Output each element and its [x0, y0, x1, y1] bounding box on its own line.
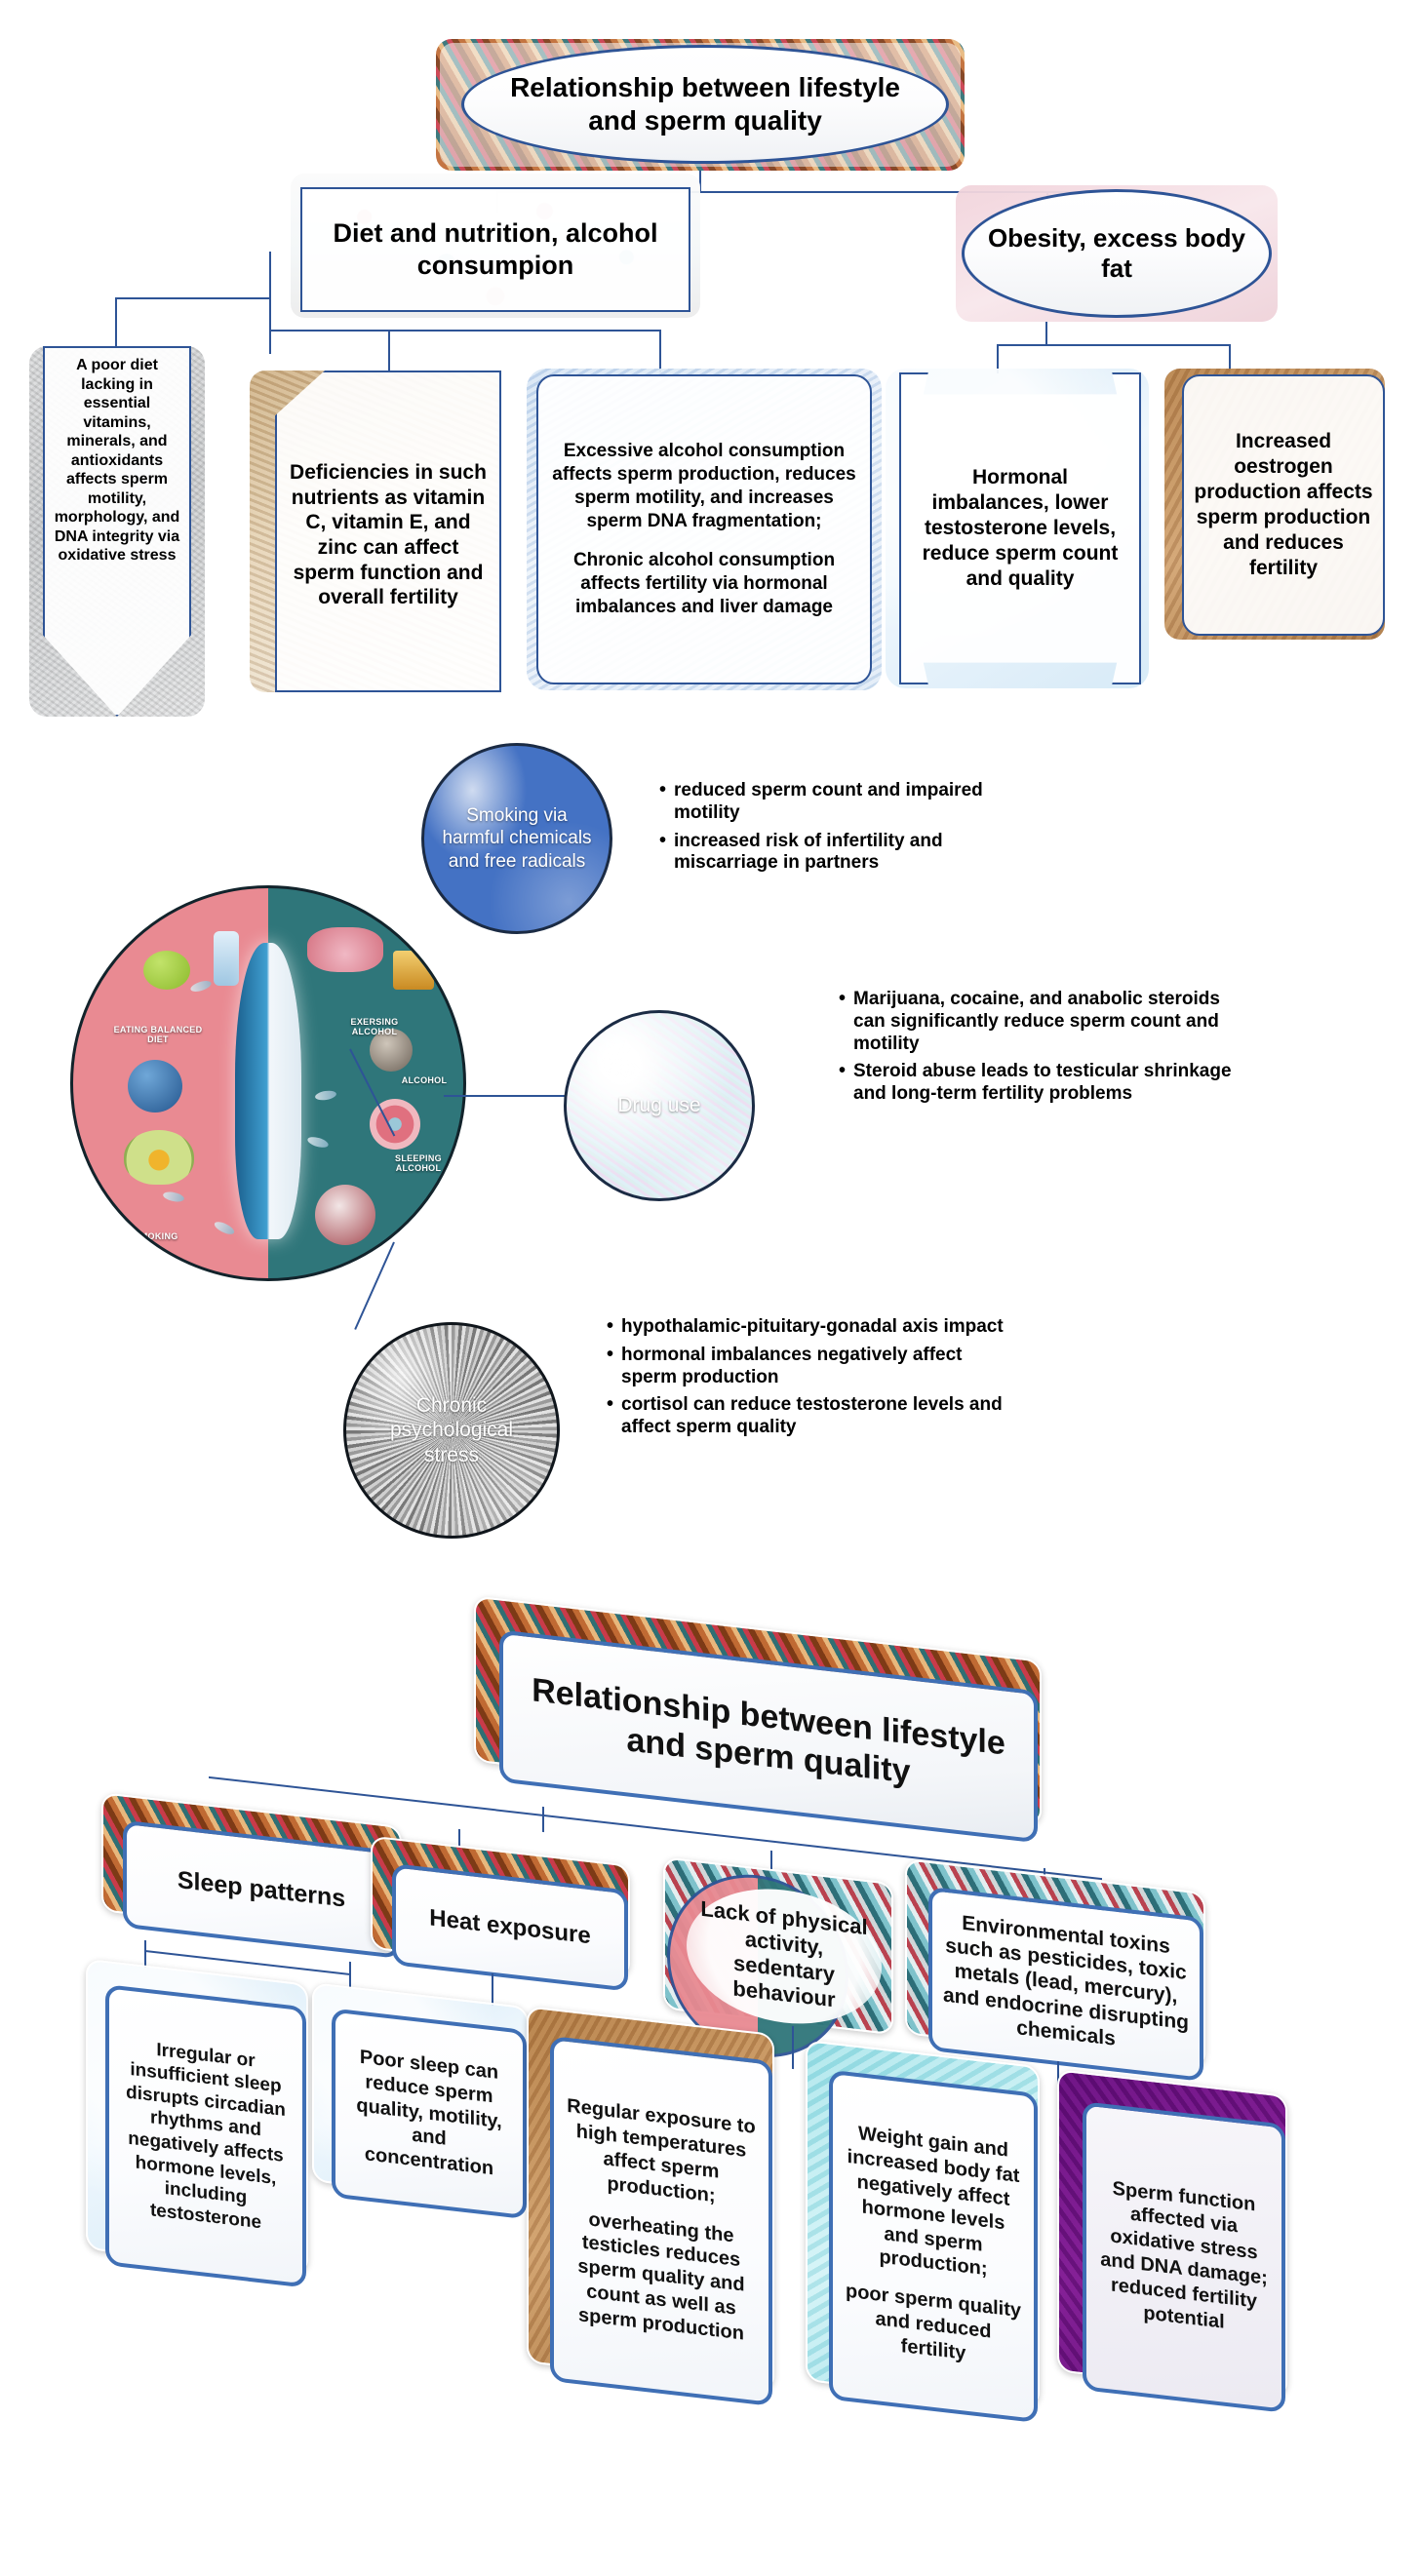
p-leaf-heat-text-1: Regular exposure to high temperatures af…: [564, 2094, 759, 2213]
circle-chronic-stress: Chronic psychological stress: [343, 1322, 560, 1539]
root-title-oval: Relationship between lifestyle and sperm…: [461, 45, 949, 164]
leaf-oestrogen-text: Increased oestrogen production affects s…: [1194, 429, 1373, 581]
bullet-smoking-1: increased risk of infertility and miscar…: [659, 831, 1040, 876]
p-leaf-sperm-function: Sperm function affected via oxidative st…: [1069, 2087, 1281, 2403]
circle-drug-use: Drug use: [564, 1010, 755, 1201]
p-node-heat-exposure: Heat exposure: [382, 1853, 624, 1983]
bullets-chronic-stress: hypothalamic-pituitary-gonadal axis impa…: [607, 1316, 1016, 1445]
beer-icon: [393, 951, 434, 990]
p-leaf-weight-gain-face: Weight gain and increased body fat negat…: [829, 2070, 1038, 2423]
p-leaf-weight-text-2: poor sperm quality and reduced fertility: [843, 2280, 1024, 2373]
root-title-text: Relationship between lifestyle and sperm…: [490, 71, 921, 137]
circle-smoking-label: Smoking via harmful chemicals and free r…: [439, 804, 595, 873]
p-connector-root-down: [542, 1807, 544, 1832]
bullet-drug-0: Marijuana, cocaine, and anabolic steroid…: [839, 989, 1248, 1055]
bullet-stress-2: cortisol can reduce testosterone levels …: [607, 1394, 1016, 1439]
leaf-hormonal-text: Hormonal imbalances, lower testosterone …: [913, 465, 1127, 592]
connector-diet-child3: [659, 330, 661, 372]
circle-drug-label: Drug use: [617, 1093, 700, 1118]
p-leaf-irregular-sleep-face: Irregular or insufficient sleep disrupts…: [105, 1984, 306, 2287]
leaf-poor-diet: A poor diet lacking in essential vitamin…: [29, 346, 205, 717]
leaf-deficiencies: Deficiencies in such nutrients as vitami…: [250, 371, 501, 692]
connector-diet-child1: [115, 297, 117, 352]
p-node-lack-activity: Lack of physical activity, sedentary beh…: [673, 1871, 887, 2038]
connector-obesity-drop: [1045, 322, 1047, 345]
leaf-oestrogen: Increased oestrogen production affects s…: [1164, 369, 1385, 640]
uterus-icon: [307, 927, 383, 972]
connector-photo-drug: [444, 1095, 565, 1097]
p-leaf-poor-sleep: Poor sleep can reduce sperm quality, mot…: [322, 1997, 523, 2210]
leaf-alcohol-text-2: Chronic alcohol consumption affects fert…: [548, 549, 860, 619]
connector-obesity-bus: [997, 344, 1231, 346]
root-title-node: Relationship between lifestyle and sperm…: [436, 39, 965, 171]
virus-icon: [315, 1185, 375, 1245]
p-leaf-irregular-sleep-text: Irregular or insufficient sleep disrupts…: [119, 2034, 293, 2238]
p-node-heat-text: Heat exposure: [429, 1904, 590, 1950]
p-leaf-heat-text-2: overheating the testicles reduces sperm …: [564, 2205, 759, 2348]
illustration-label-2: ALCOHOL: [385, 1075, 463, 1085]
p-leaf-sperm-function-face: Sperm function affected via oxidative st…: [1083, 2101, 1285, 2413]
bullet-drug-1: Steroid abuse leads to testicular shrink…: [839, 1061, 1248, 1106]
leaf-oestrogen-box: Increased oestrogen production affects s…: [1182, 374, 1385, 636]
p-leaf-heat-detail: Regular exposure to high temperatures af…: [538, 2023, 769, 2397]
connector-diet-bus: [269, 330, 659, 332]
p-node-env-toxins-face: Environmental toxins such as pesticides,…: [928, 1887, 1203, 2082]
ring-cell-icon: [370, 1099, 420, 1150]
circle-stress-label: Chronic psychological stress: [364, 1393, 539, 1468]
p-node-env-toxins: Environmental toxins such as pesticides,…: [917, 1875, 1200, 2073]
human-silhouette: [235, 943, 301, 1239]
branch-diet-text: Diet and nutrition, alcohol consumpion: [316, 217, 675, 282]
leaf-hormonal-box: Hormonal imbalances, lower testosterone …: [899, 372, 1141, 684]
p-leaf-sperm-function-text: Sperm function affected via oxidative st…: [1096, 2174, 1272, 2339]
bullets-smoking: reduced sperm count and impaired motilit…: [659, 780, 1040, 880]
bullets-drug-use: Marijuana, cocaine, and anabolic steroid…: [839, 989, 1248, 1112]
leaf-poor-diet-text: A poor diet lacking in essential vitamin…: [51, 356, 183, 566]
p-node-lack-activity-text: Lack of physical activity, sedentary beh…: [696, 1895, 872, 2016]
branch-obesity-node: Obesity, excess body fat: [956, 185, 1278, 322]
branch-diet-label: Diet and nutrition, alcohol consumpion: [300, 187, 690, 312]
p-leaf-weight-gain: Weight gain and increased body fat negat…: [817, 2056, 1034, 2412]
connector-diet-child2: [388, 330, 390, 372]
illustration-label-5: SLEEP: [409, 1224, 466, 1233]
leaf-alcohol: Excessive alcohol consumption affects sp…: [527, 369, 882, 690]
connector-diet-left-h: [115, 297, 271, 299]
connector-diet-left-drop: [269, 252, 271, 354]
p-root-title: Relationship between lifestyle and sperm…: [488, 1615, 1034, 1833]
p-connector-activity-down: [792, 2026, 794, 2069]
p-node-sleep-text: Sleep patterns: [177, 1865, 345, 1913]
leaf-hormonal: Hormonal imbalances, lower testosterone …: [886, 369, 1149, 688]
p-node-sleep-patterns: Sleep patterns: [113, 1809, 396, 1950]
p-node-env-toxins-text: Environmental toxins such as pesticides,…: [942, 1908, 1190, 2059]
illustration-label-3: SLEEPING ALCOHOL: [377, 1153, 459, 1174]
bullet-stress-1: hormonal imbalances negatively affect sp…: [607, 1345, 1016, 1389]
branch-obesity-label: Obesity, excess body fat: [962, 189, 1272, 318]
circle-smoking: Smoking via harmful chemicals and free r…: [421, 743, 612, 934]
p-leaf-poor-sleep-text: Poor sleep can reduce sperm quality, mot…: [345, 2044, 513, 2184]
leaf-alcohol-text-1: Excessive alcohol consumption affects sp…: [548, 440, 860, 533]
branch-obesity-text: Obesity, excess body fat: [988, 223, 1245, 283]
leaf-deficiencies-box: Deficiencies in such nutrients as vitami…: [275, 371, 501, 692]
p-leaf-weight-text-1: Weight gain and increased body fat negat…: [843, 2121, 1024, 2286]
p-leaf-poor-sleep-face: Poor sleep can reduce sperm quality, mot…: [332, 2008, 527, 2219]
infographic-root: Relationship between lifestyle and sperm…: [0, 0, 1419, 2576]
bullet-stress-0: hypothalamic-pituitary-gonadal axis impa…: [607, 1316, 1016, 1339]
lifestyle-illustration: EATING BALANCED DIET SMOKING EXERSING AL…: [70, 885, 466, 1281]
bullet-smoking-0: reduced sperm count and impaired motilit…: [659, 780, 1040, 825]
leaf-deficiencies-text: Deficiencies in such nutrients as vitami…: [287, 460, 490, 610]
p-leaf-heat-detail-face: Regular exposure to high temperatures af…: [550, 2036, 772, 2406]
leaf-alcohol-box: Excessive alcohol consumption affects sp…: [536, 374, 872, 684]
branch-diet-node: Diet and nutrition, alcohol consumpion: [291, 174, 700, 318]
p-root-title-text: Relationship between lifestyle and sperm…: [513, 1668, 1024, 1805]
p-leaf-irregular-sleep: Irregular or insufficient sleep disrupts…: [96, 1973, 302, 2280]
illustration-label-1: EXERSING ALCOHOL: [331, 1017, 418, 1037]
section-bottom-perspective: Relationship between lifestyle and sperm…: [0, 1619, 1419, 2576]
